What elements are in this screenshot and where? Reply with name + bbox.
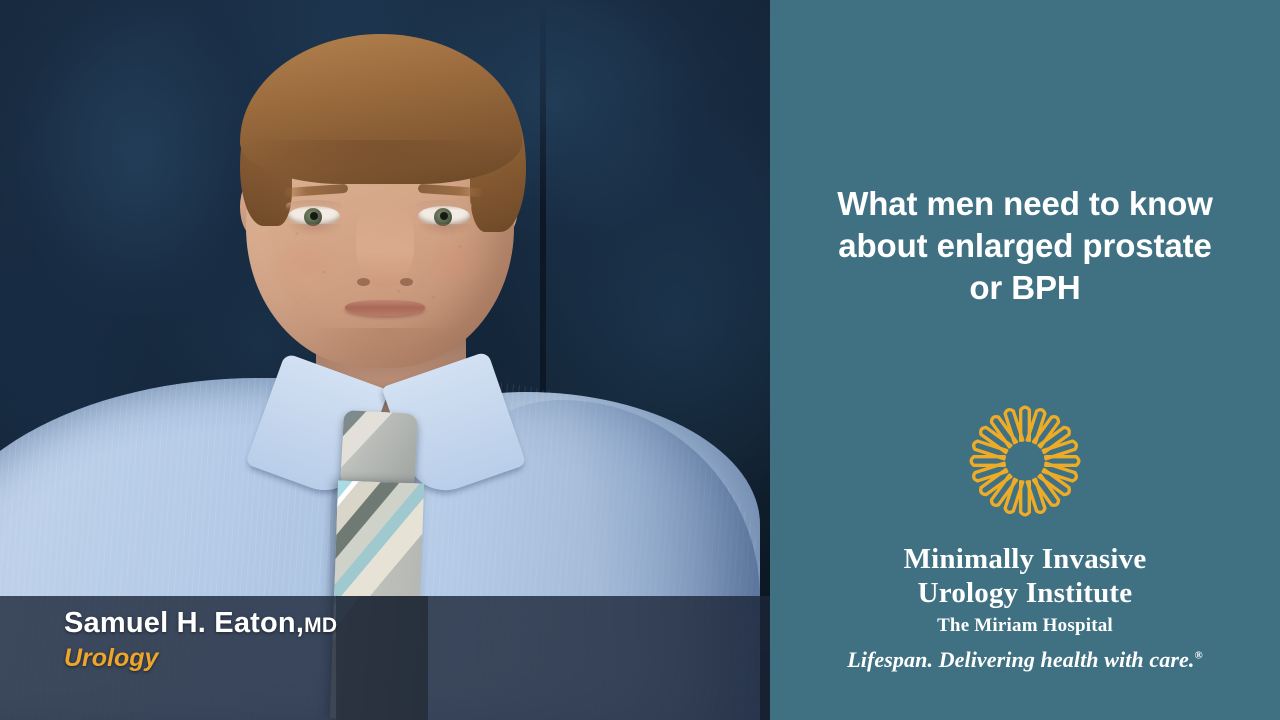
speaker-specialty: Urology [64,645,704,673]
logo-tagline-text: Lifespan. Delivering health with care. [847,647,1194,672]
logo-line-1: Minimally Invasive [770,543,1280,577]
mouth [345,300,425,316]
chin-shadow [316,328,456,362]
pupil-right [440,212,448,220]
panel-title-line-1: What men need to know [780,183,1270,225]
logo-line-3: The Miriam Hospital [770,615,1280,637]
nostril-right [400,278,413,286]
panel-title: What men need to know about enlarged pro… [780,183,1270,310]
speaker-credential: MD [304,614,337,637]
logo-tagline: Lifespan. Delivering health with care.® [770,647,1280,673]
undereye-right [418,224,472,236]
speaker-name: Samuel H. Eaton,MD [64,608,704,639]
registered-mark-icon: ® [1194,650,1202,662]
cheek-right [420,236,490,288]
title-panel: What men need to know about enlarged pro… [770,0,1280,720]
nostril-left [357,278,370,286]
hairline-shadow [252,140,508,186]
video-player-frame: Samuel H. Eaton,MD Urology What men need… [0,0,1280,720]
logo-line-2: Urology Institute [770,577,1280,611]
pupil-left [310,212,318,220]
undereye-left [288,224,342,236]
eyelid-right [416,200,472,210]
lower-third-caption: Samuel H. Eaton,MD Urology [64,608,704,673]
logo-mark [770,402,1280,520]
panel-title-line-3: or BPH [780,267,1270,309]
panel-title-line-2: about enlarged prostate [780,225,1270,267]
logo-wordmark: Minimally Invasive Urology Institute The… [770,543,1280,673]
video-pane[interactable]: Samuel H. Eaton,MD Urology [0,0,770,720]
speaker-name-text: Samuel H. Eaton, [64,607,304,639]
nose [356,204,414,288]
sunburst-logo-icon [966,402,1084,520]
eyelid-left [286,200,342,210]
cheek-left [272,236,342,288]
